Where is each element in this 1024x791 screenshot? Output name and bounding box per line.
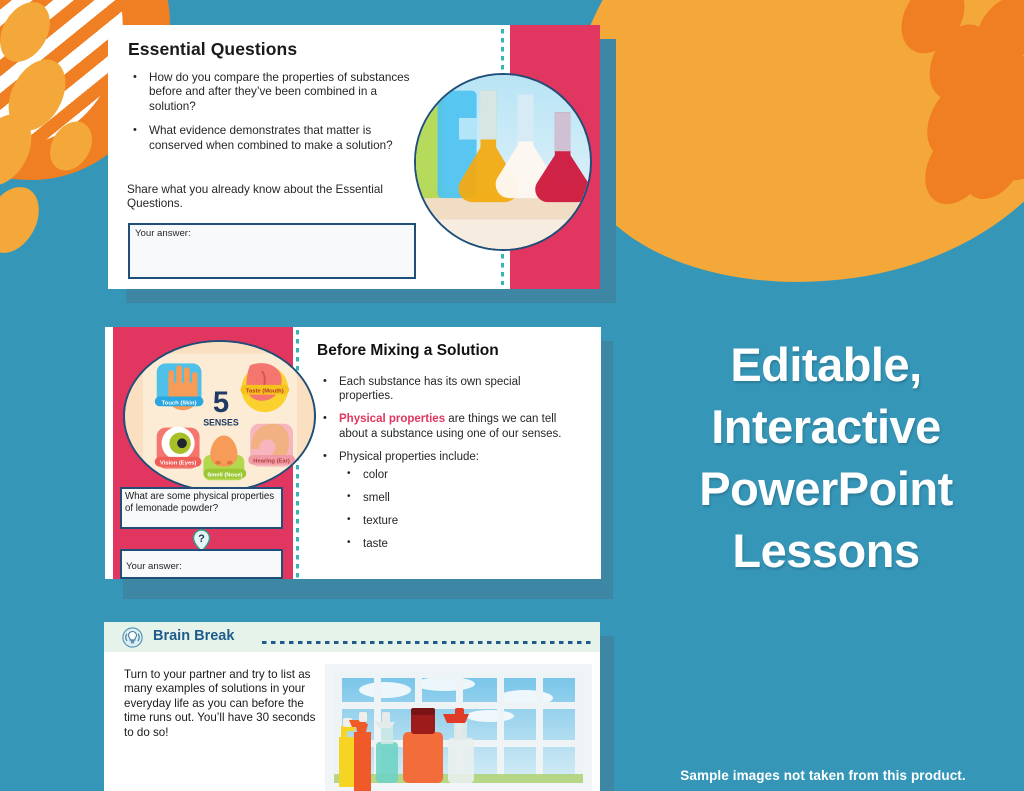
confetti-ellipse — [950, 112, 1024, 210]
confetti-ellipse — [0, 50, 77, 141]
slide-card-before-mixing-a-solution[interactable]: Touch (Skin) Taste (Mouth) 5 SENSES Visi… — [105, 327, 610, 599]
bullet-item: What evidence demonstrates that matter i… — [128, 124, 410, 153]
bullet-item: How do you compare the properties of sub… — [128, 71, 410, 114]
confetti-ellipse — [912, 116, 1001, 215]
bullet-item: Each substance has its own special prope… — [317, 375, 573, 403]
slide-surface: Essential Questions How do you compare t… — [108, 25, 600, 289]
bullet-list: How do you compare the properties of sub… — [128, 71, 410, 163]
slide-card-brain-break[interactable]: Brain Break Turn to your partner and try… — [104, 622, 614, 791]
body-text: Turn to your partner and try to list as … — [124, 668, 320, 740]
svg-text:5: 5 — [213, 387, 229, 419]
confetti-ellipse — [984, 97, 1024, 191]
sub-bullet-item: color — [341, 468, 573, 482]
prompt-text: Share what you already know about the Es… — [127, 183, 417, 212]
svg-text:SENSES: SENSES — [203, 418, 239, 428]
confetti-ellipse — [42, 114, 101, 178]
headline-line: Lessons — [628, 520, 1024, 582]
bullet-item: Physical properties are things we can te… — [317, 412, 573, 440]
cleaning-spray-bottles-photo — [325, 664, 592, 791]
sub-bullet-item: smell — [341, 491, 573, 505]
answer-input-box[interactable]: Your answer: — [120, 549, 283, 579]
slide-surface: Touch (Skin) Taste (Mouth) 5 SENSES Visi… — [105, 327, 601, 579]
answer-label: Your answer: — [126, 561, 182, 572]
promo-headline: Editable, Interactive PowerPoint Lessons — [628, 334, 1024, 582]
confetti-ellipse — [963, 0, 1024, 80]
question-box: What are some physical properties of lem… — [120, 487, 283, 529]
slide-surface: Brain Break Turn to your partner and try… — [104, 622, 600, 791]
bullet-list: Each substance has its own special prope… — [317, 375, 573, 560]
bullet-text: Physical properties include: — [339, 451, 479, 463]
answer-label: Your answer: — [135, 228, 191, 239]
confetti-ellipse — [917, 14, 1002, 110]
svg-text:Hearing (Ear): Hearing (Ear) — [253, 459, 290, 465]
bullet-item: Physical properties include: color smell… — [317, 450, 573, 551]
dotted-divider — [262, 641, 594, 644]
confetti-ellipse — [0, 178, 50, 262]
confetti-ellipse — [955, 41, 1024, 144]
confetti-ellipse — [889, 0, 978, 65]
slide-card-essential-questions[interactable]: Essential Questions How do you compare t… — [108, 25, 608, 297]
svg-text:Vision (Eyes): Vision (Eyes) — [160, 461, 197, 467]
sub-bullet-item: taste — [341, 537, 573, 551]
confetti-ellipse — [0, 0, 60, 71]
headline-line: PowerPoint — [628, 458, 1024, 520]
slide-title: Before Mixing a Solution — [317, 342, 499, 360]
slide-title: Brain Break — [153, 628, 234, 644]
sub-bullet-item: texture — [341, 514, 573, 528]
brain-lightbulb-icon — [122, 627, 143, 648]
svg-text:Touch (Skin): Touch (Skin) — [162, 400, 197, 406]
svg-text:?: ? — [198, 533, 205, 545]
svg-text:Taste (Mouth): Taste (Mouth) — [246, 389, 284, 395]
disclaimer-text: Sample images not taken from this produc… — [628, 768, 1018, 783]
confetti-ellipse — [914, 69, 1006, 171]
confetti-ellipse — [950, 112, 1024, 208]
confetti-ellipse — [0, 105, 43, 196]
slide-title: Essential Questions — [128, 39, 297, 60]
answer-input-box[interactable]: Your answer: — [128, 223, 416, 279]
headline-line: Editable, — [628, 334, 1024, 396]
five-senses-infographic: Touch (Skin) Taste (Mouth) 5 SENSES Visi… — [123, 340, 316, 492]
highlighted-term: Physical properties — [339, 413, 445, 425]
headline-line: Interactive — [628, 396, 1024, 458]
laboratory-flasks-photo — [414, 73, 592, 251]
svg-text:Smell (Nose): Smell (Nose) — [207, 472, 242, 478]
bullet-text: Each substance has its own special prope… — [339, 376, 521, 402]
sub-bullet-list: color smell texture taste — [341, 468, 573, 551]
